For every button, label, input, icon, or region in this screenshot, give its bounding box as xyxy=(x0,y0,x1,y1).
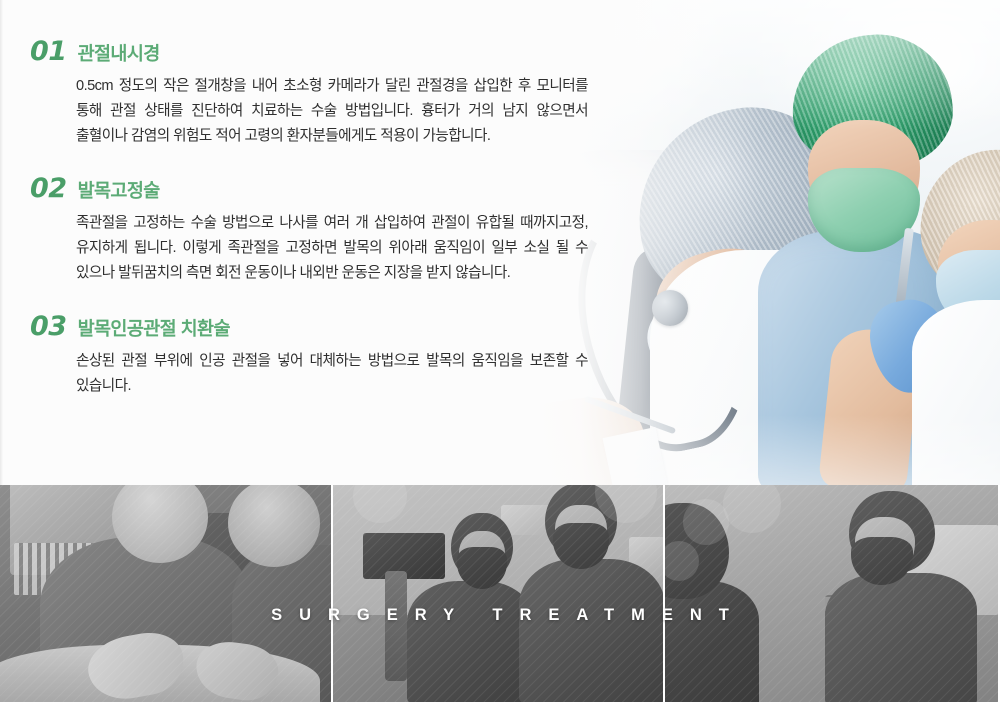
treatment-item-1: 01 관절내시경 0.5cm 정도의 작은 절개창을 내어 초소형 카메라가 달… xyxy=(30,38,620,149)
treatment-item-3-title: 발목인공관절 치환술 xyxy=(78,320,230,339)
treatment-item-1-number: 01 xyxy=(30,38,67,65)
treatment-item-2-header: 02 발목고정술 xyxy=(30,175,620,202)
treatment-item-2-number: 02 xyxy=(30,175,67,202)
photo-strip: SURGERY TREATMENT xyxy=(0,485,1000,702)
treatment-item-3-number: 03 xyxy=(30,313,67,340)
surgery-treatment-page: 01 관절내시경 0.5cm 정도의 작은 절개창을 내어 초소형 카메라가 달… xyxy=(0,0,1000,702)
treatment-item-3: 03 발목인공관절 치환술 손상된 관절 부위에 인공 관절을 넣어 대체하는 … xyxy=(30,313,620,399)
equipment-arm xyxy=(385,571,407,681)
treatment-info-section: 01 관절내시경 0.5cm 정도의 작은 절개창을 내어 초소형 카메라가 달… xyxy=(0,0,1000,485)
treatment-item-2: 02 발목고정술 족관절을 고정하는 수술 방법으로 나사를 여러 개 삽입하여… xyxy=(30,175,620,286)
treatment-item-1-description: 0.5cm 정도의 작은 절개창을 내어 초소형 카메라가 달린 관절경을 삽입… xyxy=(30,74,588,149)
surgeon-facing-body xyxy=(825,573,977,702)
treatment-item-2-title: 발목고정술 xyxy=(78,182,160,201)
strip-photo-2 xyxy=(333,485,665,702)
treatment-item-3-description: 손상된 관절 부위에 인공 관절을 넣어 대체하는 방법으로 발목의 움직임을 … xyxy=(30,349,588,399)
treatment-item-1-header: 01 관절내시경 xyxy=(30,38,620,65)
treatment-item-1-title: 관절내시경 xyxy=(78,45,160,64)
surgeon-foreground-body xyxy=(665,581,759,702)
strip-photo-1 xyxy=(0,485,333,702)
surgeon-left-body xyxy=(407,581,535,702)
strip-photo-3 xyxy=(665,485,1000,702)
surgeon-right-body xyxy=(519,559,665,702)
treatment-item-3-header: 03 발목인공관절 치환술 xyxy=(30,313,620,340)
treatment-item-2-description: 족관절을 고정하는 수술 방법으로 나사를 여러 개 삽입하여 관절이 유합될 … xyxy=(30,211,588,286)
treatment-list: 01 관절내시경 0.5cm 정도의 작은 절개창을 내어 초소형 카메라가 달… xyxy=(0,0,620,399)
